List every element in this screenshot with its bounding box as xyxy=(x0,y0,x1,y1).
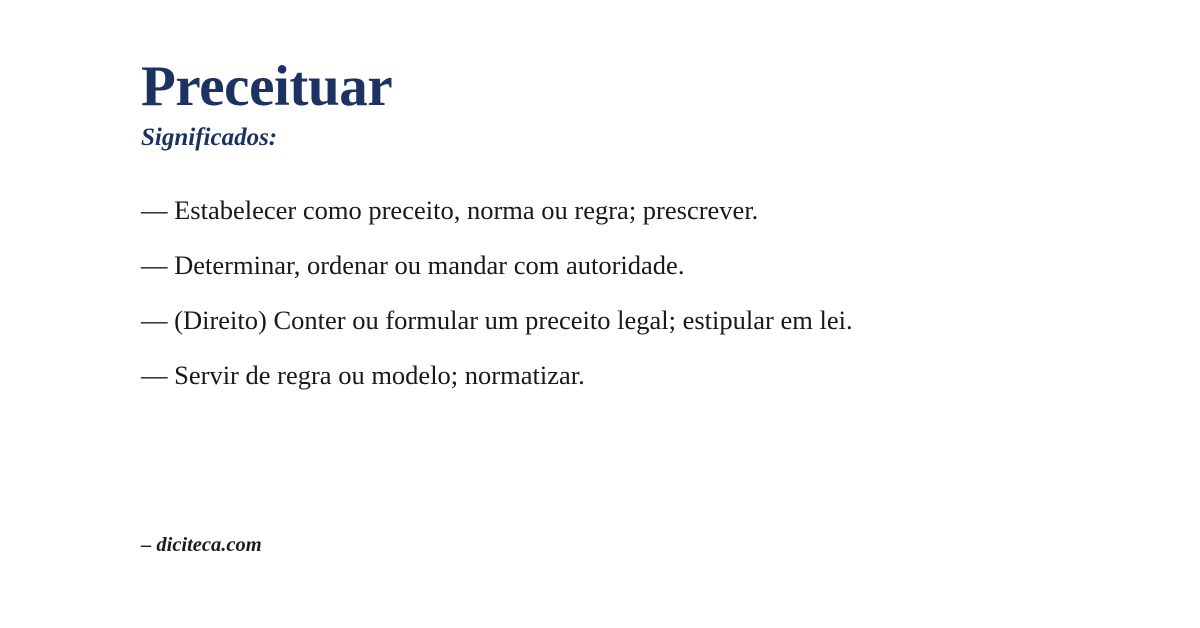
list-item: — Determinar, ordenar ou mandar com auto… xyxy=(141,248,971,282)
list-item: — Servir de regra ou modelo; normatizar. xyxy=(141,358,971,392)
dictionary-entry-card: Preceituar Significados: — Estabelecer c… xyxy=(0,0,1200,628)
list-item: — (Direito) Conter ou formular um precei… xyxy=(141,303,971,337)
list-item: — Estabelecer como preceito, norma ou re… xyxy=(141,193,971,227)
definition-list: — Estabelecer como preceito, norma ou re… xyxy=(141,193,1140,392)
page-title: Preceituar xyxy=(141,58,1140,115)
source-attribution: – diciteca.com xyxy=(141,533,262,558)
meanings-label: Significados: xyxy=(141,123,1140,153)
